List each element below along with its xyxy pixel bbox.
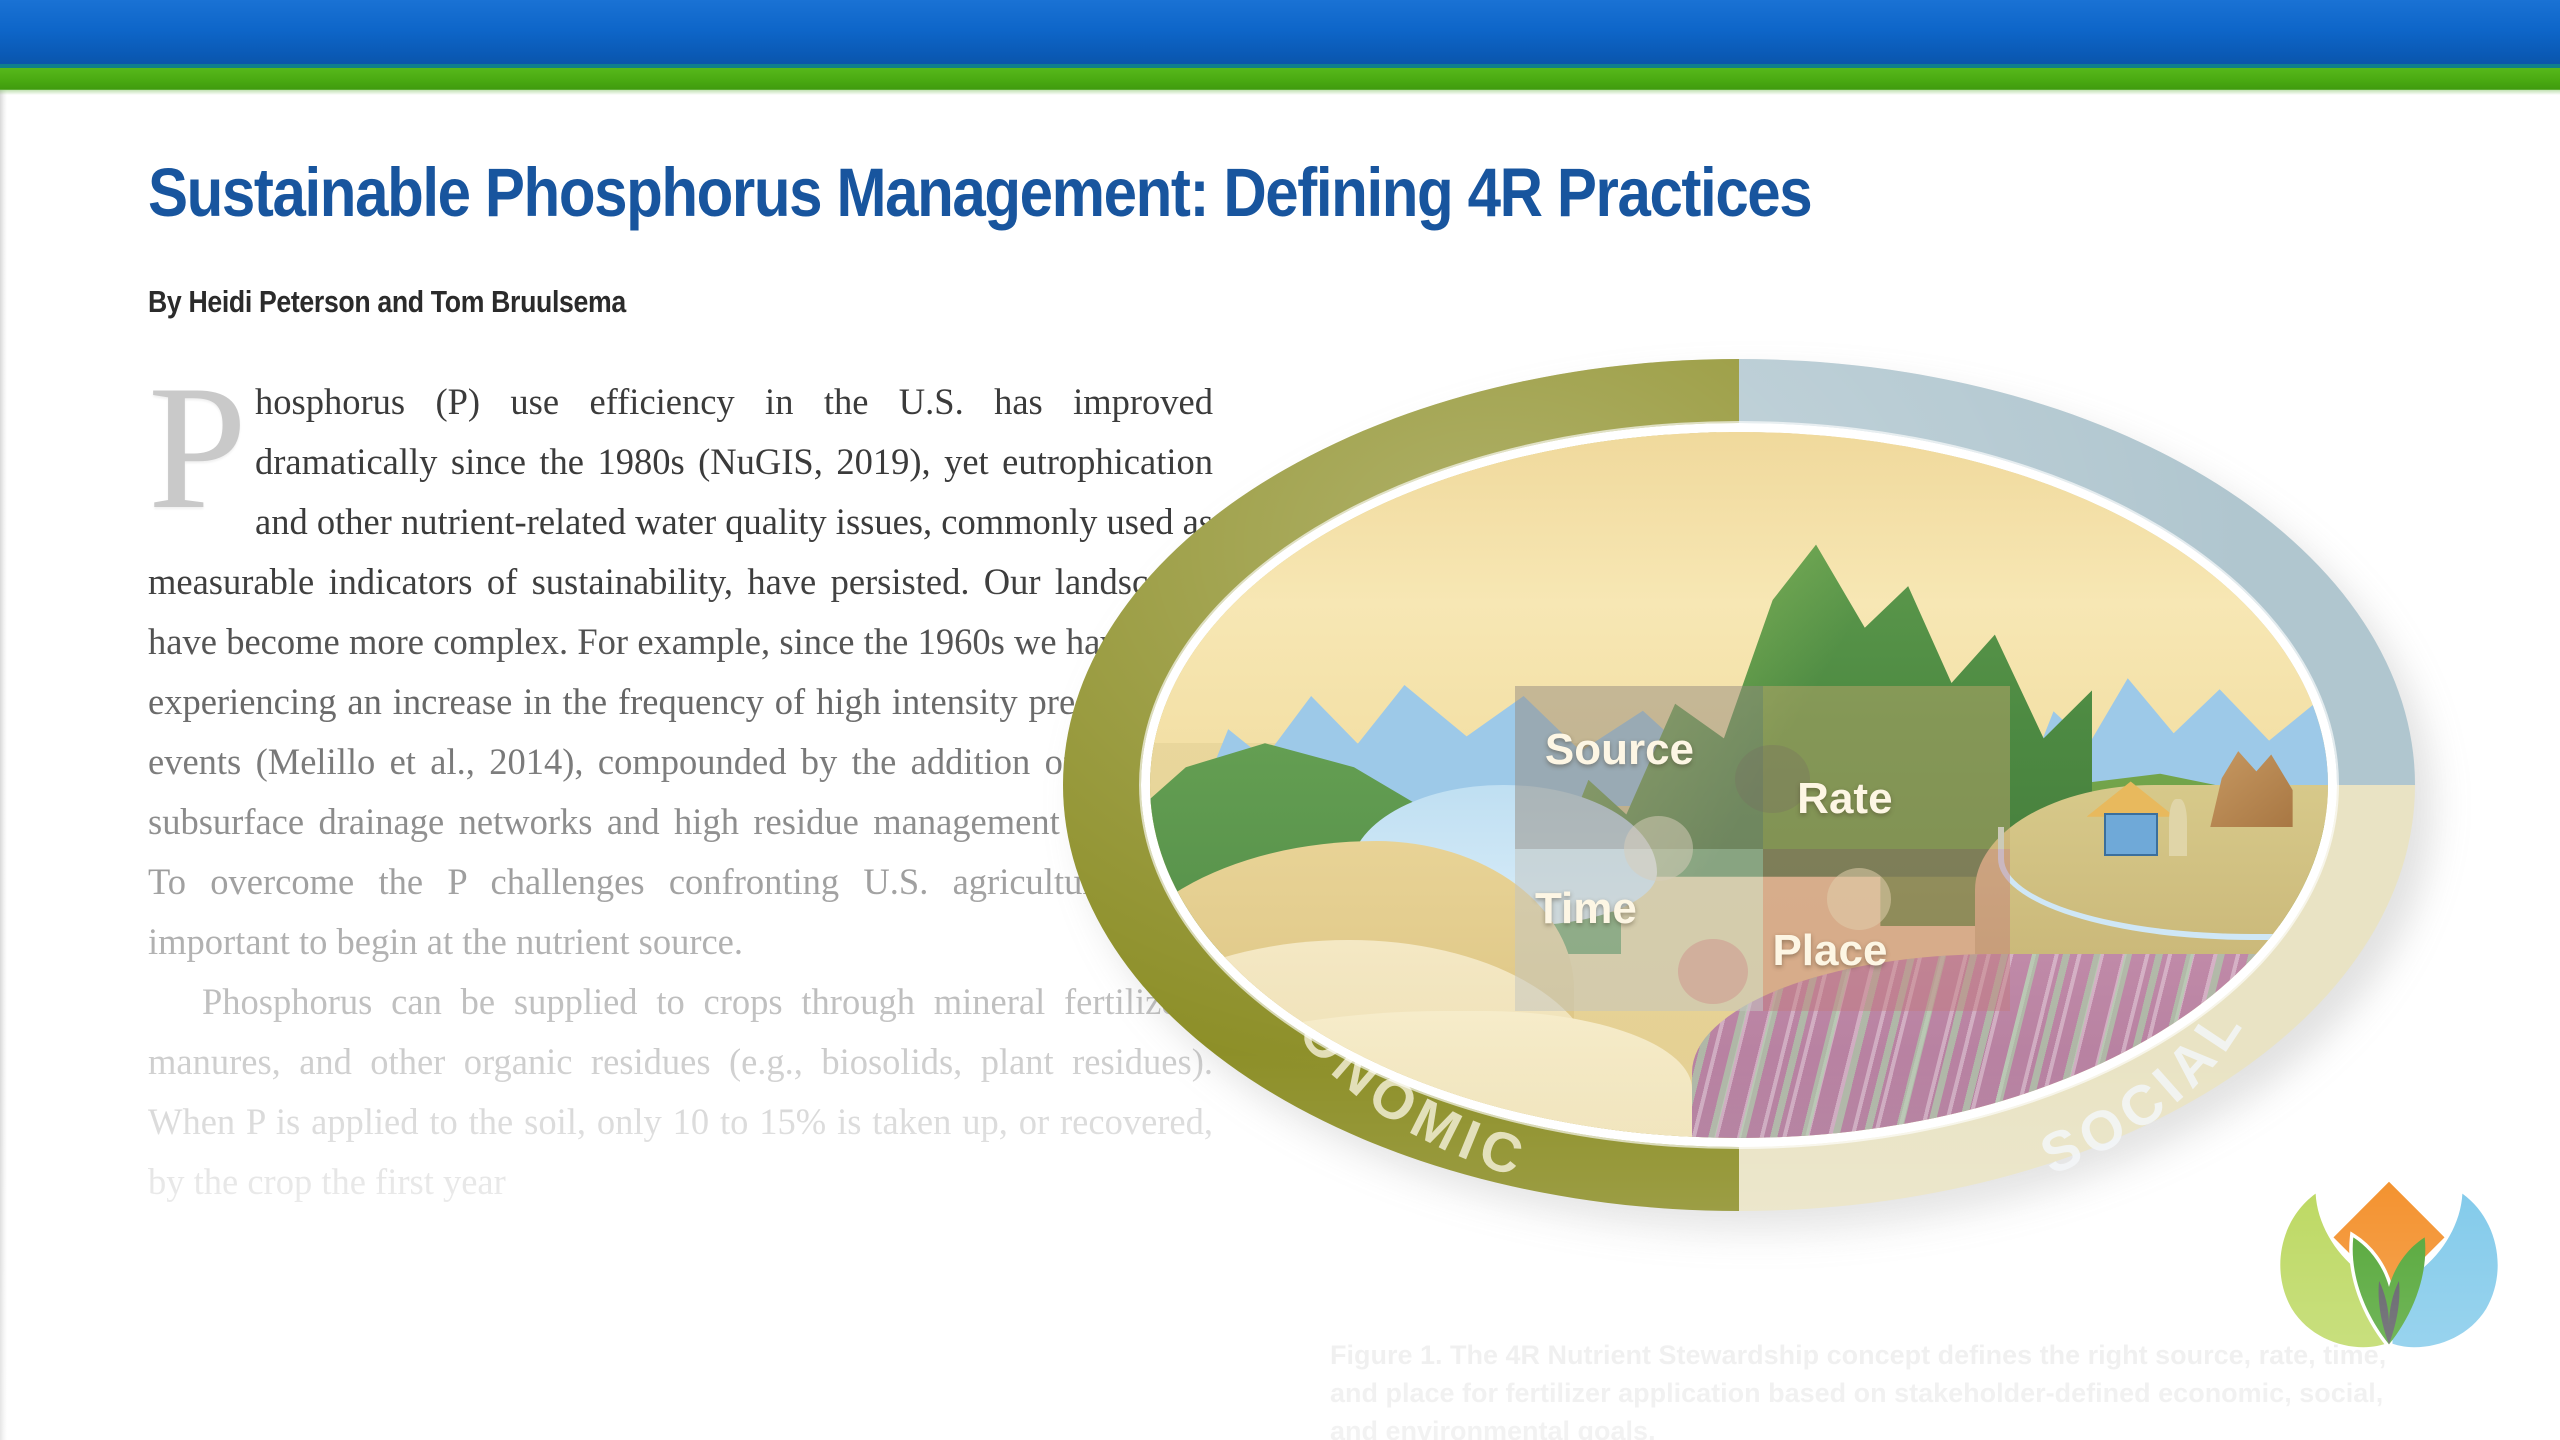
figure-4r-wheel: ENVIRONMENTAL ECONOMIC SOCIAL (1045, 345, 2485, 1305)
puzzle-knob-icon (1624, 816, 1693, 881)
page-title: Sustainable Phosphorus Management: Defin… (148, 158, 2123, 227)
figure-caption: Figure 1. The 4R Nutrient Stewardship co… (1330, 1336, 2390, 1440)
quadrant-label-rate: Rate (1797, 774, 1892, 824)
quadrant-label-place: Place (1772, 926, 1887, 976)
drop-cap: P (148, 378, 247, 517)
puzzle-knob-icon (1827, 868, 1891, 930)
landscape-illustration: Source Rate Time Place (1150, 432, 2328, 1138)
quadrant-label-source: Source (1545, 725, 1694, 775)
article-page: Sustainable Phosphorus Management: Defin… (0, 0, 2560, 1440)
page-left-edge (0, 0, 7, 1440)
byline: By Heidi Peterson and Tom Bruulsema (148, 284, 626, 320)
banner-green-bar (0, 68, 2560, 90)
4r-puzzle-overlay: Source Rate Time Place (1515, 686, 2010, 1011)
puzzle-knob-icon (1678, 939, 1747, 1004)
banner-blue-bar (0, 0, 2560, 66)
plant-leaf-logo (2270, 1175, 2508, 1375)
quadrant-label-time: Time (1535, 884, 1637, 934)
banner-green-fade (0, 89, 2560, 95)
silo-shape (2169, 799, 2187, 855)
barn-body-shape (2104, 813, 2158, 855)
